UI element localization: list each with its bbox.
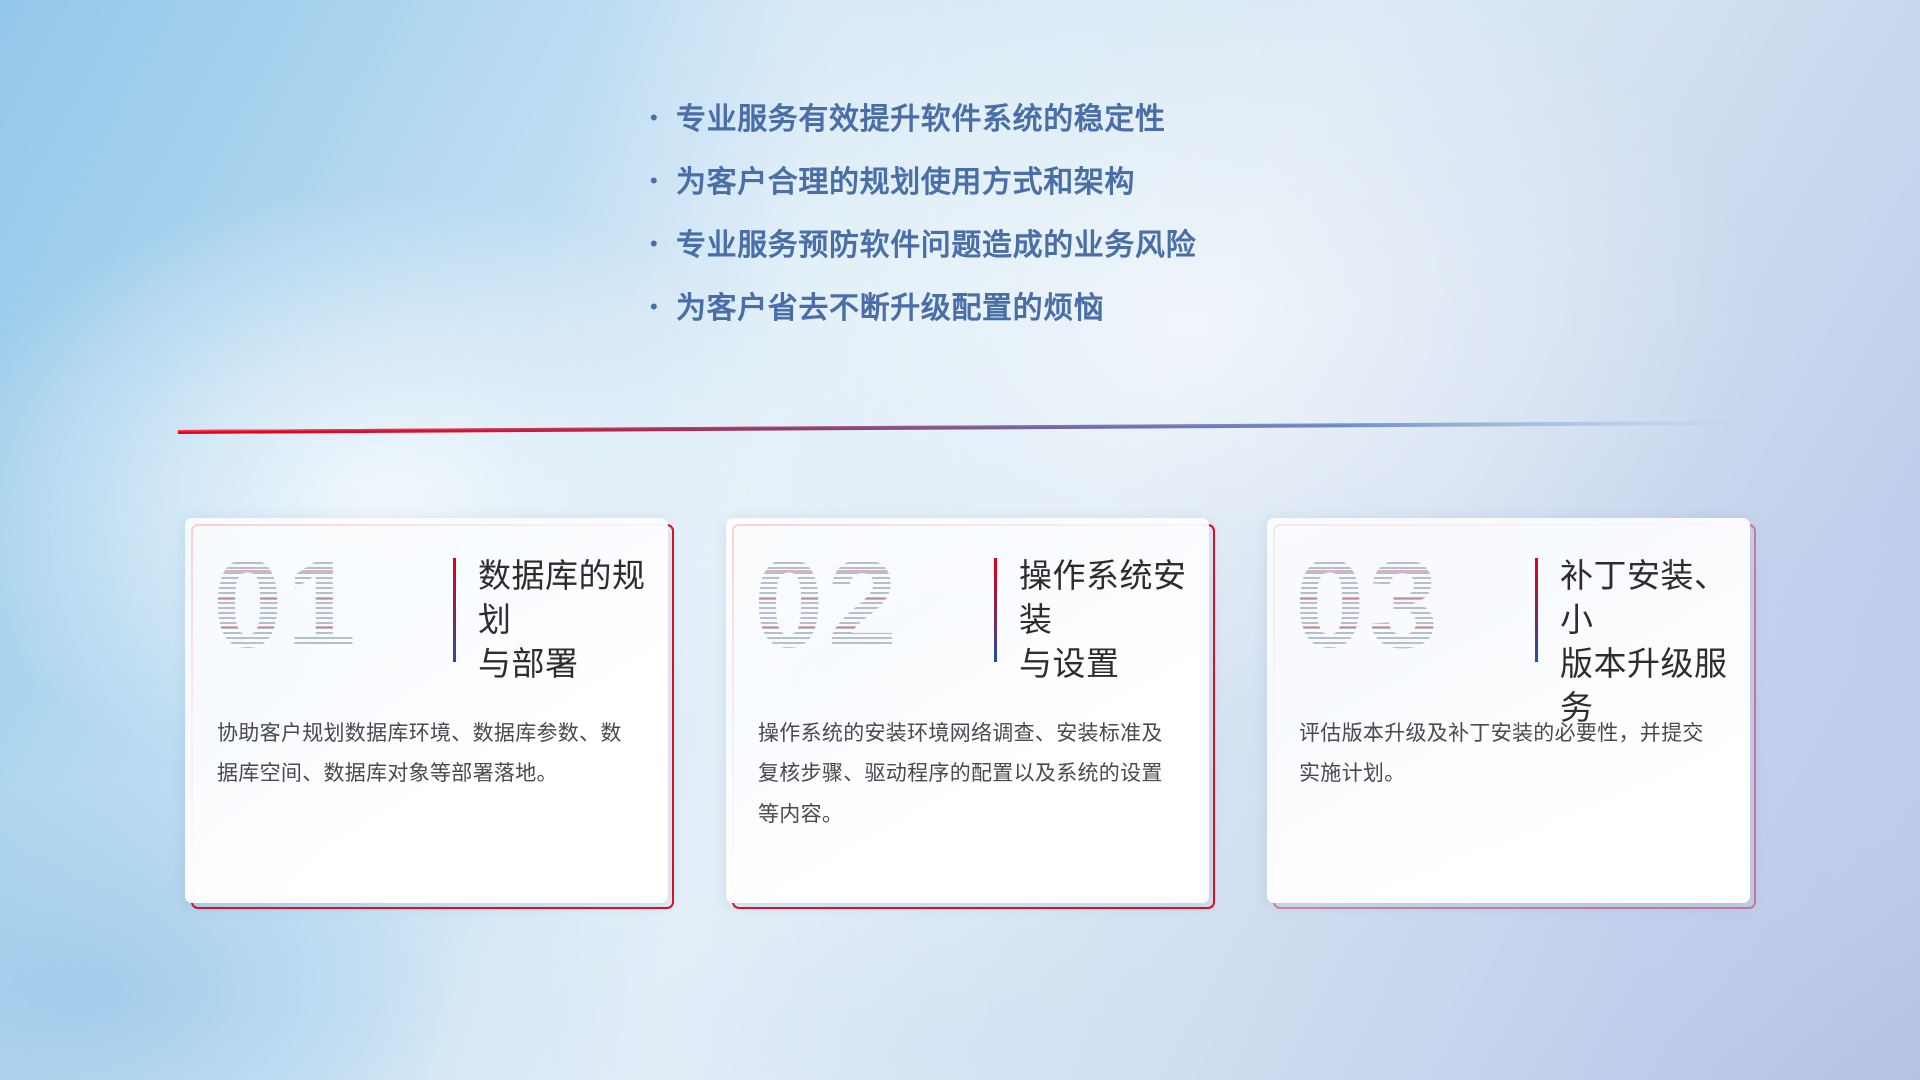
bullet-text: 为客户合理的规划使用方式和架构 [676,168,1135,198]
bullet-marker-icon: • [650,170,676,192]
list-item: • 为客户合理的规划使用方式和架构 [650,168,1196,231]
section-divider [178,416,1748,438]
card-header: 03 03 补丁安装、小 版本升级服务 [1267,518,1750,700]
card-header: 02 02 操作系统安装 与设置 [726,518,1209,700]
service-card[interactable]: 02 02 操作系统安装 与设置 操作系统的安装环境网络调查、安装标准及复核步骤… [726,518,1209,903]
card-title: 补丁安装、小 版本升级服务 [1560,554,1750,730]
card-title-block: 数据库的规划 与部署 [453,554,668,686]
card-title: 数据库的规划 与部署 [478,554,668,686]
bullet-text: 专业服务预防软件问题造成的业务风险 [676,231,1196,261]
card-title-accent-bar [1535,558,1538,662]
card-number-ghost-tint: 02 [754,542,901,667]
card-description: 操作系统的安装环境网络调查、安装标准及复核步骤、驱动程序的配置以及系统的设置等内… [758,714,1183,835]
benefits-bullet-list: • 专业服务有效提升软件系统的稳定性 • 为客户合理的规划使用方式和架构 • 专… [650,105,1196,357]
list-item: • 为客户省去不断升级配置的烦恼 [650,294,1196,357]
list-item: • 专业服务预防软件问题造成的业务风险 [650,231,1196,294]
card-title-accent-bar [453,558,456,662]
list-item: • 专业服务有效提升软件系统的稳定性 [650,105,1196,168]
service-cards: 01 01 数据库的规划 与部署 协助客户规划数据库环境、数据库参数、数据库空间… [185,518,1750,903]
card-description: 协助客户规划数据库环境、数据库参数、数据库空间、数据库对象等部署落地。 [217,714,642,795]
bullet-text: 为客户省去不断升级配置的烦恼 [676,294,1104,324]
bullet-marker-icon: • [650,233,676,255]
card-title-block: 操作系统安装 与设置 [994,554,1209,686]
service-card[interactable]: 03 03 补丁安装、小 版本升级服务 评估版本升级及补丁安装的必要性，并提交实… [1267,518,1750,903]
bullet-marker-icon: • [650,296,676,318]
card-number-ghost-tint: 01 [213,542,360,667]
card-number-ghost-tint: 03 [1295,542,1442,667]
card-surface: 03 03 补丁安装、小 版本升级服务 评估版本升级及补丁安装的必要性，并提交实… [1267,518,1750,903]
bullet-text: 专业服务有效提升软件系统的稳定性 [676,105,1166,135]
card-title: 操作系统安装 与设置 [1019,554,1209,686]
service-card[interactable]: 01 01 数据库的规划 与部署 协助客户规划数据库环境、数据库参数、数据库空间… [185,518,668,903]
card-surface: 02 02 操作系统安装 与设置 操作系统的安装环境网络调查、安装标准及复核步骤… [726,518,1209,903]
card-surface: 01 01 数据库的规划 与部署 协助客户规划数据库环境、数据库参数、数据库空间… [185,518,668,903]
bullet-marker-icon: • [650,107,676,129]
card-header: 01 01 数据库的规划 与部署 [185,518,668,700]
card-title-block: 补丁安装、小 版本升级服务 [1535,554,1750,730]
card-title-accent-bar [994,558,997,662]
card-description: 评估版本升级及补丁安装的必要性，并提交实施计划。 [1299,714,1724,795]
